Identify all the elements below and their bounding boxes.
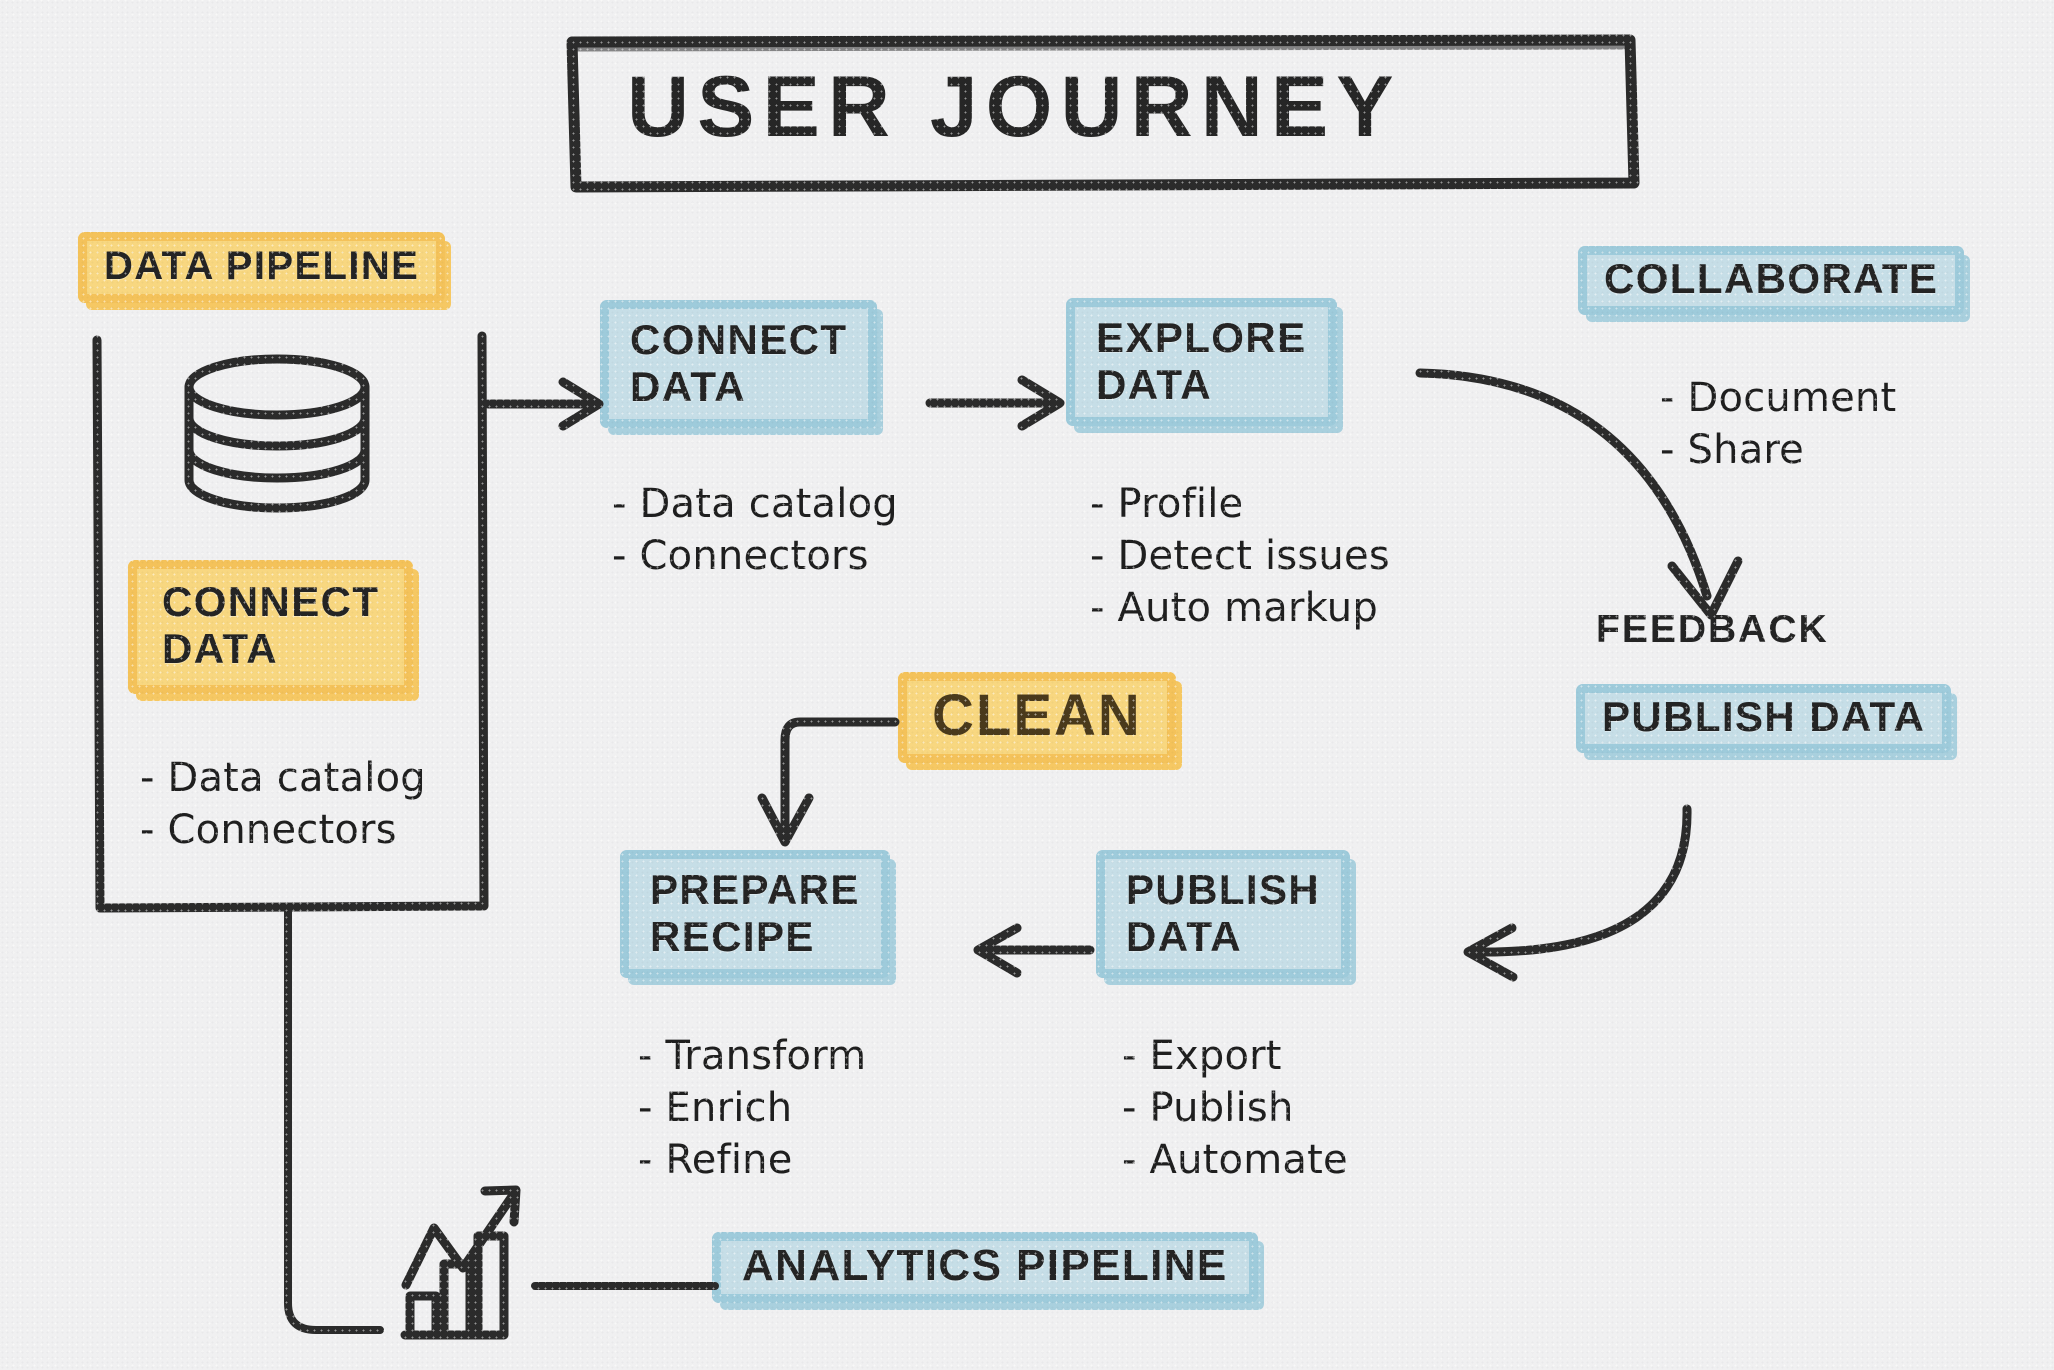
collaborate-label: COLLABORATE bbox=[1604, 258, 1938, 301]
prepare-recipe-chip[interactable]: PREPARE RECIPE bbox=[620, 850, 890, 978]
node-connect-data-left[interactable]: CONNECT DATA bbox=[128, 560, 413, 694]
arrow-publish-to-prepare bbox=[978, 928, 1090, 973]
page-title-text: USER JOURNEY bbox=[627, 59, 1402, 155]
node-analytics-pipeline[interactable]: ANALYTICS PIPELINE bbox=[712, 1232, 1258, 1303]
bar-chart-trend-icon bbox=[405, 1190, 516, 1335]
node-collaborate[interactable]: COLLABORATE bbox=[1578, 246, 1964, 315]
node-connect-data[interactable]: CONNECT DATA bbox=[600, 300, 877, 428]
data-pipeline-label: DATA PIPELINE bbox=[104, 246, 419, 287]
node-prepare-recipe[interactable]: PREPARE RECIPE bbox=[620, 850, 890, 978]
arrow-connect-to-explore bbox=[930, 380, 1060, 426]
publish-data-bullets: - Export - Publish - Automate bbox=[1122, 1030, 1348, 1186]
connect-data-bullets: - Data catalog - Connectors bbox=[612, 478, 898, 582]
node-publish-data[interactable]: PUBLISH DATA bbox=[1096, 850, 1350, 978]
diagram-canvas: USER JOURNEY DATA PIPELINE CONNECT DATA … bbox=[0, 0, 2054, 1370]
arrow-frame-to-connect bbox=[488, 382, 599, 426]
analytics-pipeline-chip[interactable]: ANALYTICS PIPELINE bbox=[712, 1232, 1258, 1303]
collaborate-bullets: - Document - Share bbox=[1660, 372, 1896, 476]
publish-data-right-chip[interactable]: PUBLISH DATA bbox=[1576, 684, 1951, 753]
node-data-pipeline[interactable]: DATA PIPELINE bbox=[78, 232, 445, 303]
explore-data-chip[interactable]: EXPLORE DATA bbox=[1066, 298, 1337, 426]
connect-data-left-chip[interactable]: CONNECT DATA bbox=[128, 560, 413, 694]
explore-data-label: EXPLORE DATA bbox=[1096, 314, 1307, 408]
arrow-publish-to-publish bbox=[1468, 809, 1687, 977]
connect-data-left-label: CONNECT DATA bbox=[162, 578, 379, 672]
clean-chip[interactable]: CLEAN bbox=[898, 672, 1176, 763]
prepare-recipe-label: PREPARE RECIPE bbox=[650, 866, 860, 960]
explore-data-bullets: - Profile - Detect issues - Auto markup bbox=[1090, 478, 1390, 634]
node-explore-data[interactable]: EXPLORE DATA bbox=[1066, 298, 1337, 426]
page-title: USER JOURNEY bbox=[565, 36, 1464, 187]
publish-data-right-label: PUBLISH DATA bbox=[1602, 696, 1925, 739]
node-publish-data-right[interactable]: PUBLISH DATA bbox=[1576, 684, 1951, 753]
prepare-recipe-bullets: - Transform - Enrich - Refine bbox=[638, 1030, 866, 1186]
publish-data-label: PUBLISH DATA bbox=[1126, 866, 1320, 960]
feedback-label: FEEDBACK bbox=[1596, 608, 1829, 652]
analytics-pipeline-label: ANALYTICS PIPELINE bbox=[742, 1244, 1228, 1289]
data-pipeline-chip[interactable]: DATA PIPELINE bbox=[78, 232, 445, 303]
arrow-clean-to-prepare bbox=[762, 722, 895, 842]
connect-data-left-bullets: - Data catalog - Connectors bbox=[140, 752, 426, 856]
publish-data-chip[interactable]: PUBLISH DATA bbox=[1096, 850, 1350, 978]
clean-label: CLEAN bbox=[932, 686, 1142, 745]
connector-pipeline-to-analytics bbox=[288, 908, 380, 1330]
connect-data-label: CONNECT DATA bbox=[630, 316, 847, 410]
node-clean[interactable]: CLEAN bbox=[898, 672, 1176, 763]
connect-data-chip[interactable]: CONNECT DATA bbox=[600, 300, 877, 428]
collaborate-chip[interactable]: COLLABORATE bbox=[1578, 246, 1964, 315]
database-cylinder-icon bbox=[189, 359, 365, 508]
